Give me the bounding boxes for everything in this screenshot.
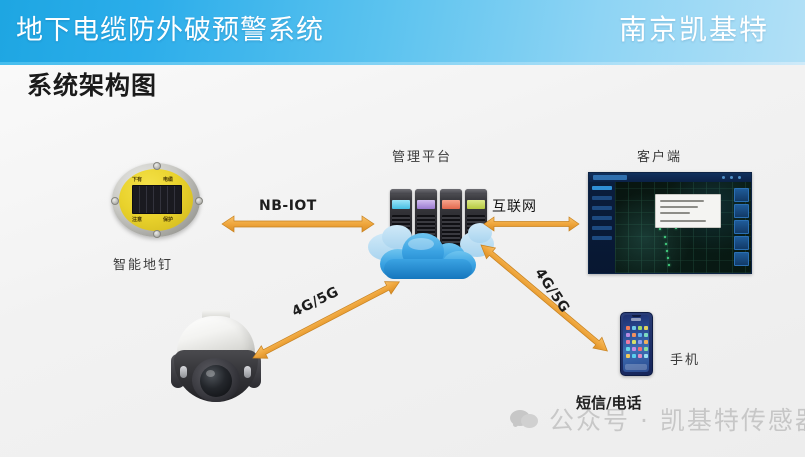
arrow-cloud-to-client	[484, 217, 579, 231]
arrow-cloud-to-phone	[477, 240, 612, 357]
slide-canvas: 地下电缆防外破预警系统 南京凯基特 系统架构图 下有 电缆 注意 保护 智能地钉	[0, 0, 805, 457]
wechat-bubble-small	[521, 414, 538, 428]
watermark: 公众号 · 凯基特传感器	[510, 401, 805, 437]
arrow-label-internet: 互联网	[492, 196, 537, 216]
connection-arrows	[0, 0, 805, 457]
watermark-text: 公众号 · 凯基特传感器	[549, 401, 805, 437]
arrow-nail-to-cloud	[222, 216, 374, 232]
wechat-icon	[510, 408, 540, 430]
arrow-label-nbiot: NB-IOT	[259, 198, 317, 214]
